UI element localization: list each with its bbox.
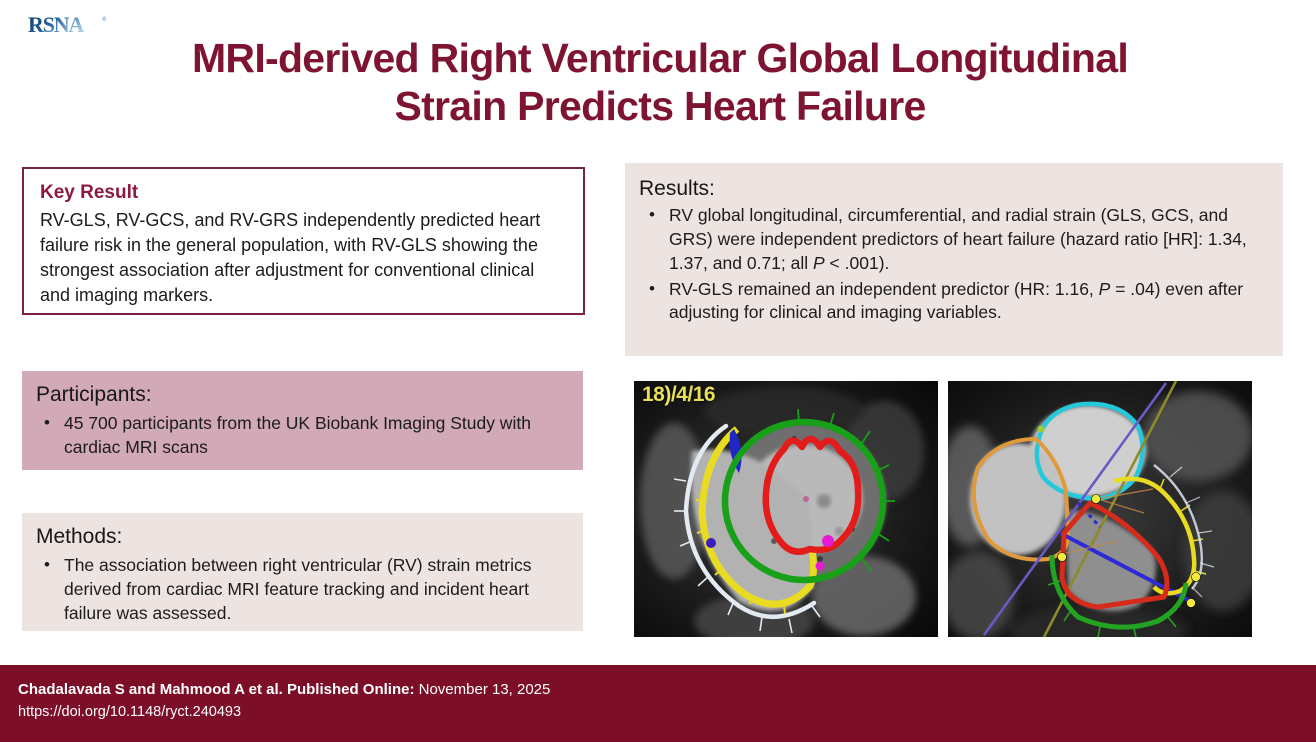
footer-bar: Chadalavada S and Mahmood A et al. Publi… [0, 665, 1316, 742]
participants-bullet-list: 45 700 participants from the UK Biobank … [36, 412, 569, 460]
svg-text:RSNA: RSNA [28, 12, 84, 37]
participants-heading: Participants: [36, 381, 569, 408]
mri-figure-four-chamber [948, 381, 1252, 637]
results-panel: Results: RV global longitudinal, circumf… [625, 163, 1283, 356]
title-line-1: MRI-derived Right Ventricular Global Lon… [192, 35, 1128, 81]
methods-bullet-item: The association between right ventricula… [36, 554, 569, 625]
results-bullet-item: RV-GLS remained an independent predictor… [639, 278, 1265, 326]
key-result-panel: Key Result RV-GLS, RV-GCS, and RV-GRS in… [22, 167, 585, 315]
participants-panel: Participants: 45 700 participants from t… [22, 371, 583, 470]
citation-authors: Chadalavada S and Mahmood A et al. Publi… [18, 681, 414, 698]
results-bullet-2-pre: RV-GLS remained an independent predictor… [669, 279, 1099, 299]
results-bullet-1-pre: RV global longitudinal, circumferential,… [669, 205, 1247, 273]
methods-heading: Methods: [36, 523, 569, 550]
svg-text:®: ® [102, 16, 107, 23]
doi-link[interactable]: https://doi.org/10.1148/ryct.240493 [18, 702, 658, 724]
key-result-heading: Key Result [40, 181, 567, 205]
results-bullet-2-italic: P [1099, 279, 1111, 299]
footer-citation: Chadalavada S and Mahmood A et al. Publi… [18, 679, 658, 723]
key-result-body: RV-GLS, RV-GCS, and RV-GRS independently… [40, 208, 567, 308]
results-bullet-item: RV global longitudinal, circumferential,… [639, 204, 1265, 275]
participants-bullet-item: 45 700 participants from the UK Biobank … [36, 412, 569, 460]
results-bullet-1-italic: P [813, 253, 825, 273]
mri-figure-short-axis: 18)/4/16 [634, 381, 938, 637]
graphical-abstract-poster: RSNA ® MRI-derived Right Ventricular Glo… [0, 0, 1316, 742]
results-bullet-1-post: < .001). [825, 253, 890, 273]
title-line-2: Strain Predicts Heart Failure [394, 83, 925, 129]
page-title: MRI-derived Right Ventricular Global Lon… [130, 34, 1190, 131]
results-bullet-list: RV global longitudinal, circumferential,… [639, 204, 1265, 325]
methods-panel: Methods: The association between right v… [22, 513, 583, 631]
methods-bullet-list: The association between right ventricula… [36, 554, 569, 625]
results-heading: Results: [639, 175, 1265, 202]
rsna-logo: RSNA ® [28, 12, 112, 38]
citation-date: November 13, 2025 [414, 681, 550, 698]
